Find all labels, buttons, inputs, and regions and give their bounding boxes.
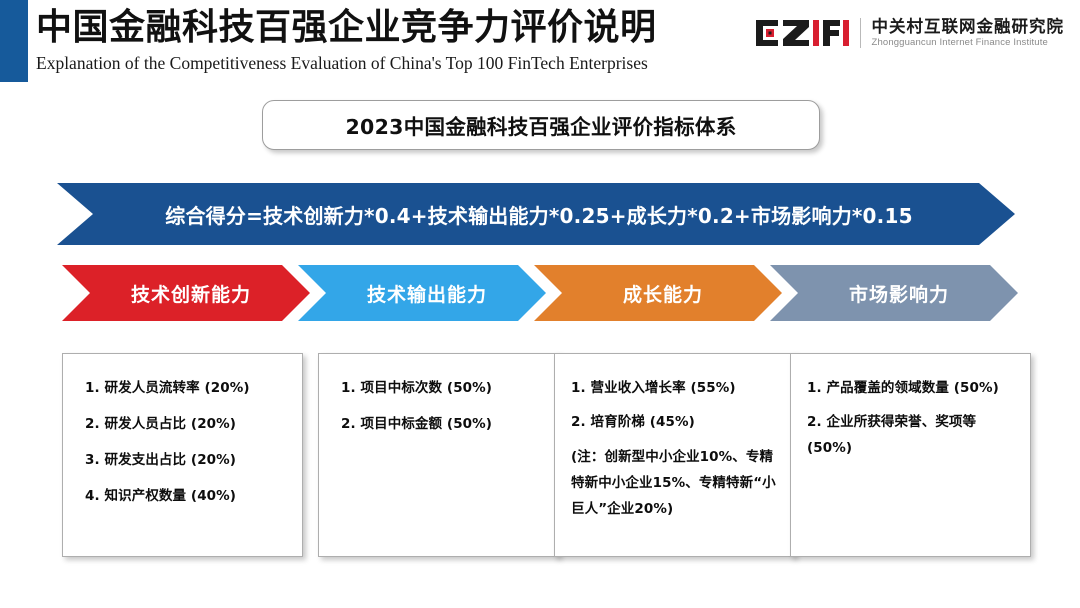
indicator-item: 2. 研发人员占比 (20%) — [77, 416, 288, 433]
indicator-item: 2. 项目中标金额 (50%) — [333, 416, 544, 433]
logo-name-cn: 中关村互联网金融研究院 — [872, 17, 1065, 36]
indicator-box-market-influence: 1. 产品覆盖的领域数量 (50%) 2. 企业所获得荣誉、奖项等 (50%) — [790, 353, 1031, 557]
title-block: 中国金融科技百强企业竞争力评价说明 Explanation of the Com… — [36, 6, 657, 75]
dimension-chevron-row: 技术创新能力 技术输出能力 成长能力 市场影响力 — [0, 265, 1080, 321]
page-title: 中国金融科技百强企业竞争力评价说明 — [36, 6, 657, 50]
indicator-note: (注：创新型中小企业10%、专精特新中小企业15%、专精特新“小巨人”企业20%… — [569, 444, 780, 522]
indicator-item: 1. 研发人员流转率 (20%) — [77, 380, 288, 397]
indicator-box-technical-output: 1. 项目中标次数 (50%) 2. 项目中标金额 (50%) — [318, 353, 559, 557]
dimension-label: 成长能力 — [613, 280, 703, 307]
index-system-title: 2023中国金融科技百强企业评价指标体系 — [345, 110, 736, 140]
score-formula-banner: 综合得分=技术创新力*0.4+技术输出能力*0.25+成长力*0.2+市场影响力… — [57, 183, 1015, 245]
czifi-logomark-icon — [754, 18, 850, 48]
indicator-item: 4. 知识产权数量 (40%) — [77, 488, 288, 505]
indicator-item: 1. 项目中标次数 (50%) — [333, 380, 544, 397]
page-subtitle-en: Explanation of the Competitiveness Evalu… — [36, 51, 657, 75]
indicator-detail-row: 1. 研发人员流转率 (20%) 2. 研发人员占比 (20%) 3. 研发支出… — [0, 353, 1080, 559]
score-formula-text: 综合得分=技术创新力*0.4+技术输出能力*0.25+成长力*0.2+市场影响力… — [159, 200, 912, 229]
dimension-chevron-technical-output[interactable]: 技术输出能力 — [298, 265, 546, 321]
header-accent-bar — [0, 0, 28, 82]
dimension-chevron-market-influence[interactable]: 市场影响力 — [770, 265, 1018, 321]
indicator-box-technical-innovation: 1. 研发人员流转率 (20%) 2. 研发人员占比 (20%) 3. 研发支出… — [62, 353, 303, 557]
logo-divider — [860, 18, 861, 48]
organization-logo: 中关村互联网金融研究院 Zhongguancun Internet Financ… — [754, 12, 1065, 54]
indicator-item: 2. 企业所获得荣誉、奖项等 (50%) — [805, 409, 1016, 461]
logo-text-block: 中关村互联网金融研究院 Zhongguancun Internet Financ… — [872, 17, 1065, 49]
dimension-label: 技术创新能力 — [121, 280, 251, 307]
dimension-chevron-growth[interactable]: 成长能力 — [534, 265, 782, 321]
indicator-item: 1. 营业收入增长率 (55%) — [569, 380, 780, 397]
indicator-box-growth: 1. 营业收入增长率 (55%) 2. 培育阶梯 (45%) (注：创新型中小企… — [554, 353, 795, 557]
slide-root: 中国金融科技百强企业竞争力评价说明 Explanation of the Com… — [0, 0, 1080, 608]
dimension-label: 市场影响力 — [839, 280, 949, 307]
index-system-title-box: 2023中国金融科技百强企业评价指标体系 — [262, 100, 820, 150]
indicator-item: 1. 产品覆盖的领域数量 (50%) — [805, 380, 1016, 397]
slide-header: 中国金融科技百强企业竞争力评价说明 Explanation of the Com… — [0, 0, 1080, 86]
dimension-label: 技术输出能力 — [357, 280, 487, 307]
logo-name-en: Zhongguancun Internet Finance Institute — [872, 36, 1065, 49]
dimension-chevron-technical-innovation[interactable]: 技术创新能力 — [62, 265, 310, 321]
indicator-item: 2. 培育阶梯 (45%) — [569, 414, 780, 431]
indicator-item: 3. 研发支出占比 (20%) — [77, 452, 288, 469]
